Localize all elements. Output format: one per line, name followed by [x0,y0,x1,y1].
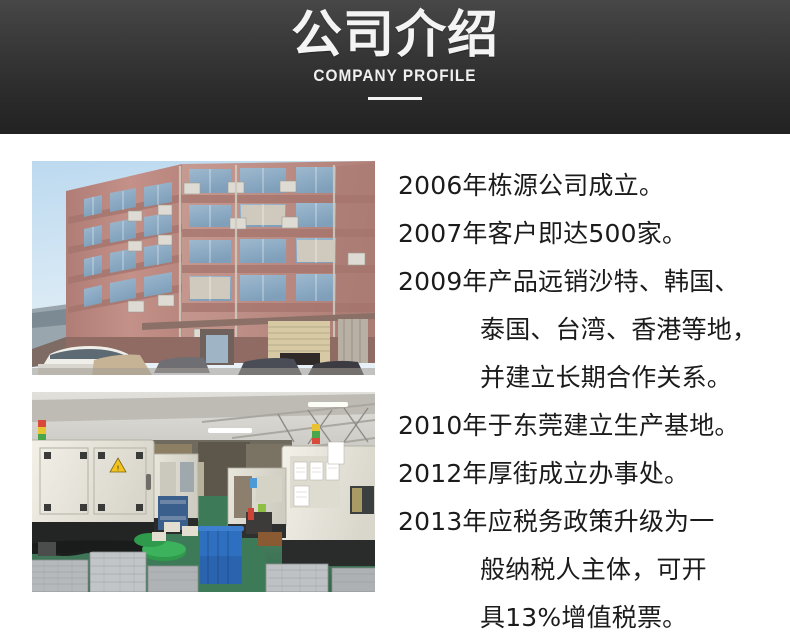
profile-line: 2012年厚街成立办事处。 [398,450,783,498]
title-underline-divider [368,97,422,100]
profile-line: 2007年客户即达500家。 [398,210,783,258]
profile-line: 般纳税人主体，可开 [398,546,783,594]
profile-line: 2010年于东莞建立生产基地。 [398,402,783,450]
page-subtitle: COMPANY PROFILE [28,62,763,86]
banner-content: 公司介绍 COMPANY PROFILE [0,0,790,100]
profile-content: ! [0,134,790,620]
page-title: 公司介绍 [0,0,790,62]
svg-text:!: ! [117,465,120,473]
profile-line: 并建立长期合作关系。 [398,354,783,402]
workshop-illustration: ! [32,392,375,592]
profile-line: 2006年栋源公司成立。 [398,162,783,210]
building-illustration [32,161,375,375]
profile-line: 具13%增值税票。 [398,594,783,642]
profile-line: 2009年产品远销沙特、韩国、 [398,258,783,306]
profile-line: 泰国、台湾、香港等地， [398,306,783,354]
profile-line: 2013年应税务政策升级为一 [398,498,783,546]
page-banner: 公司介绍 COMPANY PROFILE [0,0,790,134]
company-building-photo [32,161,375,375]
profile-text-block: 2006年栋源公司成立。 2007年客户即达500家。 2009年产品远销沙特、… [398,162,783,642]
workshop-photo: ! [32,392,375,592]
